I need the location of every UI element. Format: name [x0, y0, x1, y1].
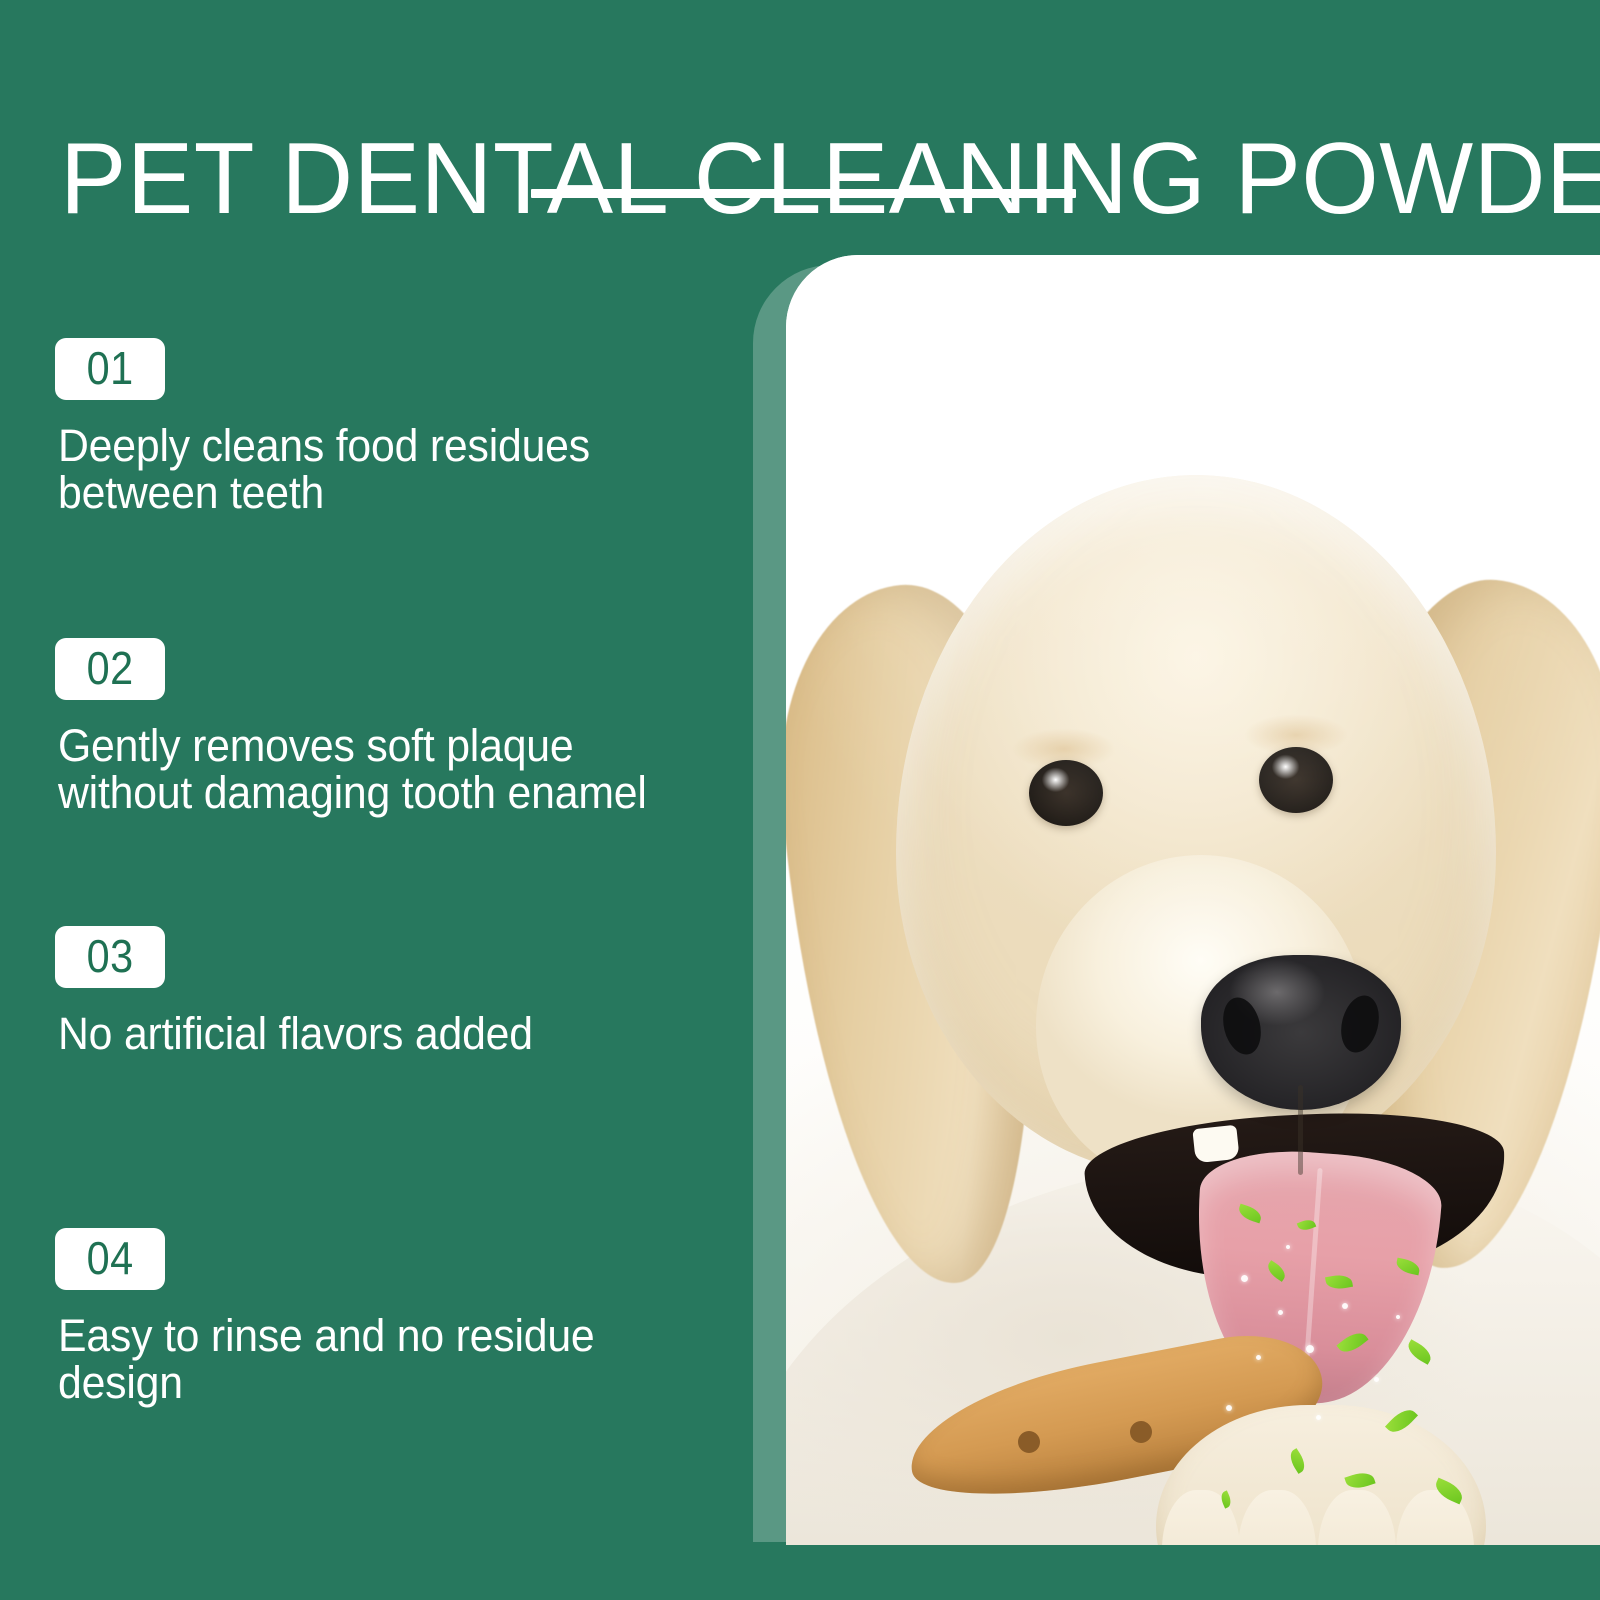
feature-number-label: 04	[87, 1235, 134, 1283]
feature-description: Easy to rinse and no residue design	[58, 1312, 685, 1406]
paw-toe	[1238, 1490, 1316, 1545]
puppy-eye-right	[1259, 747, 1333, 813]
paw-toe	[1396, 1490, 1474, 1545]
sparkle-dot	[1306, 1345, 1314, 1353]
feature-list: 01 Deeply cleans food residues between t…	[0, 0, 740, 1600]
feature-description: No artificial flavors added	[58, 1010, 685, 1057]
sparkle-dot	[1256, 1355, 1261, 1360]
sparkle-dot	[1342, 1303, 1348, 1309]
feature-number-badge: 04	[55, 1228, 165, 1290]
paw-toe	[1318, 1490, 1396, 1545]
feature-number-badge: 02	[55, 638, 165, 700]
collar-hole	[1130, 1421, 1152, 1443]
feature-description: Deeply cleans food residues between teet…	[58, 422, 685, 516]
sparkle-dot	[1226, 1405, 1232, 1411]
sparkle-dot	[1316, 1415, 1321, 1420]
sparkle-dot	[1396, 1315, 1400, 1319]
sparkle-dot	[1374, 1377, 1379, 1382]
sparkle-dot	[1241, 1275, 1248, 1282]
feature-number-label: 03	[87, 933, 134, 981]
sparkle-dot	[1278, 1310, 1283, 1315]
puppy-teeth	[1192, 1125, 1239, 1163]
puppy-eye-left	[1029, 760, 1103, 826]
collar-hole	[1018, 1431, 1040, 1453]
puppy-photo	[786, 255, 1600, 1545]
feature-number-label: 01	[87, 345, 134, 393]
feature-number-label: 02	[87, 645, 134, 693]
product-feature-poster: PET DENTAL CLEANING POWDER 01 Deeply cle…	[0, 0, 1600, 1600]
feature-description: Gently removes soft plaque without damag…	[58, 722, 685, 816]
puppy-philtrum	[1298, 1085, 1303, 1175]
feature-number-badge: 03	[55, 926, 165, 988]
sparkle-dot	[1286, 1245, 1290, 1249]
feature-number-badge: 01	[55, 338, 165, 400]
